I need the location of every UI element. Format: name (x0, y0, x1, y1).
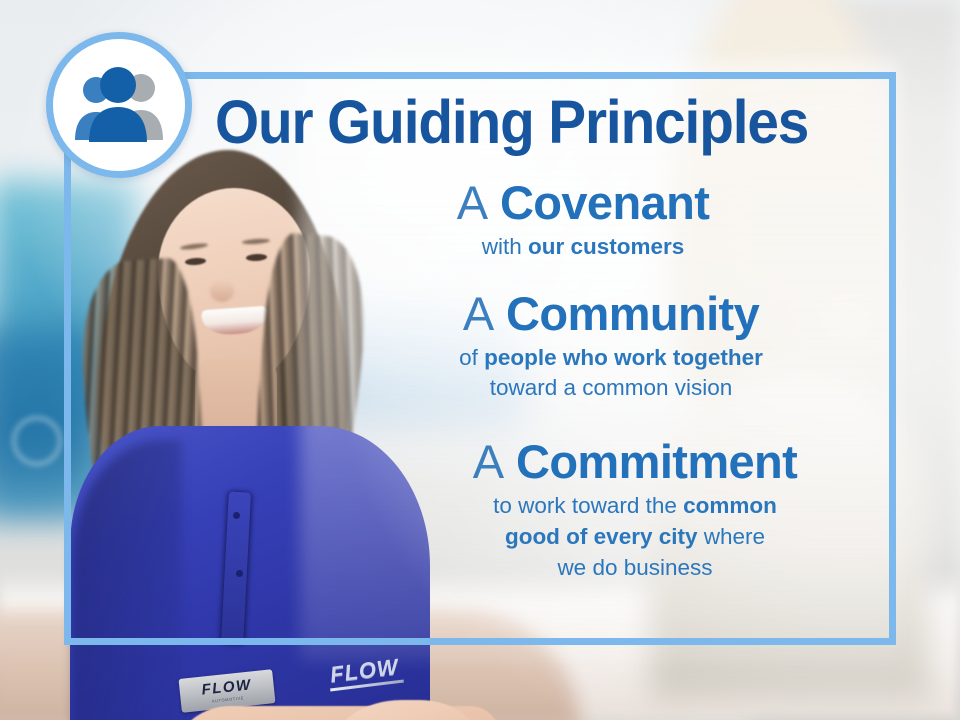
principle-community-keyword: Community (506, 287, 759, 340)
page-title: Our Guiding Principles (215, 92, 847, 153)
principle-community-heading: A Community (344, 289, 878, 340)
employee-polo-button-top (233, 512, 240, 519)
principle-community: A Community of people who work together … (344, 289, 878, 402)
name-badge-logo-text: FLOW (201, 677, 252, 697)
principle-commitment-sub-1-0: good of every city (505, 524, 698, 549)
people-group-icon (67, 66, 171, 144)
principle-community-article: A (463, 287, 494, 340)
employee-nose (210, 280, 234, 302)
principle-commitment-sub-0-1: common (683, 493, 777, 518)
principle-covenant-heading: A Covenant (288, 178, 878, 229)
principle-commitment-keyword: Commitment (516, 435, 797, 488)
principle-community-subtext: of people who work together toward a com… (344, 343, 878, 402)
principle-covenant-sub-0-0: with (482, 234, 528, 259)
principle-covenant-article: A (457, 176, 488, 229)
principle-covenant-sub-0-1: our customers (528, 234, 684, 259)
employee-polo-button-bottom (236, 570, 243, 577)
principle-commitment-subtext: to work toward the common good of every … (392, 490, 878, 583)
principle-covenant-subtext: with our customers (288, 232, 878, 262)
principle-community-sub-1-0: toward a common vision (490, 375, 733, 400)
principle-commitment-heading: A Commitment (392, 437, 878, 488)
principle-commitment-sub-1-1: where (698, 524, 766, 549)
principle-commitment-sub-2-0: we do business (557, 555, 712, 580)
principle-community-sub-0-1: people who work together (484, 345, 763, 370)
principle-commitment-article: A (473, 435, 504, 488)
principle-commitment-sub-0-0: to work toward the (493, 493, 683, 518)
principles-list: A Covenant with our customers A Communit… (300, 178, 878, 589)
principle-commitment: A Commitment to work toward the common g… (392, 437, 878, 584)
principle-covenant: A Covenant with our customers (288, 178, 878, 261)
principle-community-sub-0-0: of (459, 345, 484, 370)
people-group-badge (46, 32, 192, 178)
principle-covenant-keyword: Covenant (500, 176, 709, 229)
banner-canvas: FLOW AUTOMOTIVE FLOW Our Gui (0, 0, 960, 720)
